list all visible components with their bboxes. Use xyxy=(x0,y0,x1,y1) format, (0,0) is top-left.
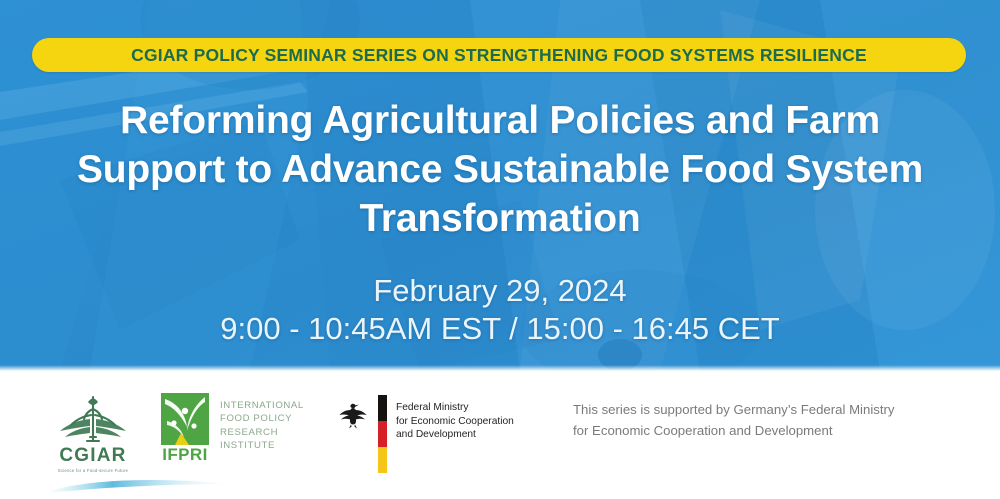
seminar-series-banner-text: CGIAR POLICY SEMINAR SERIES ON STRENGTHE… xyxy=(131,45,867,66)
support-note-line-1: This series is supported by Germany’s Fe… xyxy=(573,399,973,420)
footer-logo-section: CGIAR Science for a Food-secure Future xyxy=(0,371,1000,499)
bmz-line-2: for Economic Cooperation xyxy=(396,415,514,429)
ifpri-logo: IFPRI INTERNATIONAL FOOD POLICY RESEARCH… xyxy=(160,393,330,477)
hero-bottom-fade xyxy=(0,365,1000,371)
ifpri-name-line-1: INTERNATIONAL xyxy=(220,399,304,412)
event-title-line-3: Transformation xyxy=(40,194,960,243)
bmz-line-3: and Development xyxy=(396,428,514,442)
cgiar-logo: CGIAR Science for a Food-secure Future xyxy=(38,393,148,477)
support-acknowledgement-text: This series is supported by Germany’s Fe… xyxy=(573,399,973,441)
german-flag-bar xyxy=(378,395,387,473)
ifpri-name-line-2: FOOD POLICY xyxy=(220,412,304,425)
ifpri-emblem-icon xyxy=(161,393,209,445)
ifpri-full-name: INTERNATIONAL FOOD POLICY RESEARCH INSTI… xyxy=(220,399,304,453)
event-time: 9:00 - 10:45AM EST / 15:00 - 16:45 CET xyxy=(0,310,1000,348)
cgiar-wordmark: CGIAR xyxy=(59,446,126,466)
event-title: Reforming Agricultural Policies and Farm… xyxy=(0,96,1000,243)
support-note-line-2: for Economic Cooperation and Development xyxy=(573,420,973,441)
ifpri-name-line-3: RESEARCH xyxy=(220,426,304,439)
german-federal-eagle-icon xyxy=(338,399,368,429)
ifpri-name-line-4: INSTITUTE xyxy=(220,439,304,452)
event-title-line-1: Reforming Agricultural Policies and Farm xyxy=(40,96,960,145)
bmz-ministry-name: Federal Ministry for Economic Cooperatio… xyxy=(396,401,514,442)
decorative-swoosh-graphic xyxy=(44,471,234,497)
cgiar-emblem-icon xyxy=(57,393,129,445)
event-announcement-poster: CGIAR POLICY SEMINAR SERIES ON STRENGTHE… xyxy=(0,0,1000,499)
seminar-series-banner: CGIAR POLICY SEMINAR SERIES ON STRENGTHE… xyxy=(32,38,966,72)
event-title-line-2: Support to Advance Sustainable Food Syst… xyxy=(40,145,960,194)
bmz-logo: Federal Ministry for Economic Cooperatio… xyxy=(338,395,514,477)
event-datetime: February 29, 2024 9:00 - 10:45AM EST / 1… xyxy=(0,272,1000,348)
bmz-line-1: Federal Ministry xyxy=(396,401,514,415)
hero-banner-section: CGIAR POLICY SEMINAR SERIES ON STRENGTHE… xyxy=(0,0,1000,371)
ifpri-wordmark: IFPRI xyxy=(162,446,207,464)
event-date: February 29, 2024 xyxy=(0,272,1000,310)
